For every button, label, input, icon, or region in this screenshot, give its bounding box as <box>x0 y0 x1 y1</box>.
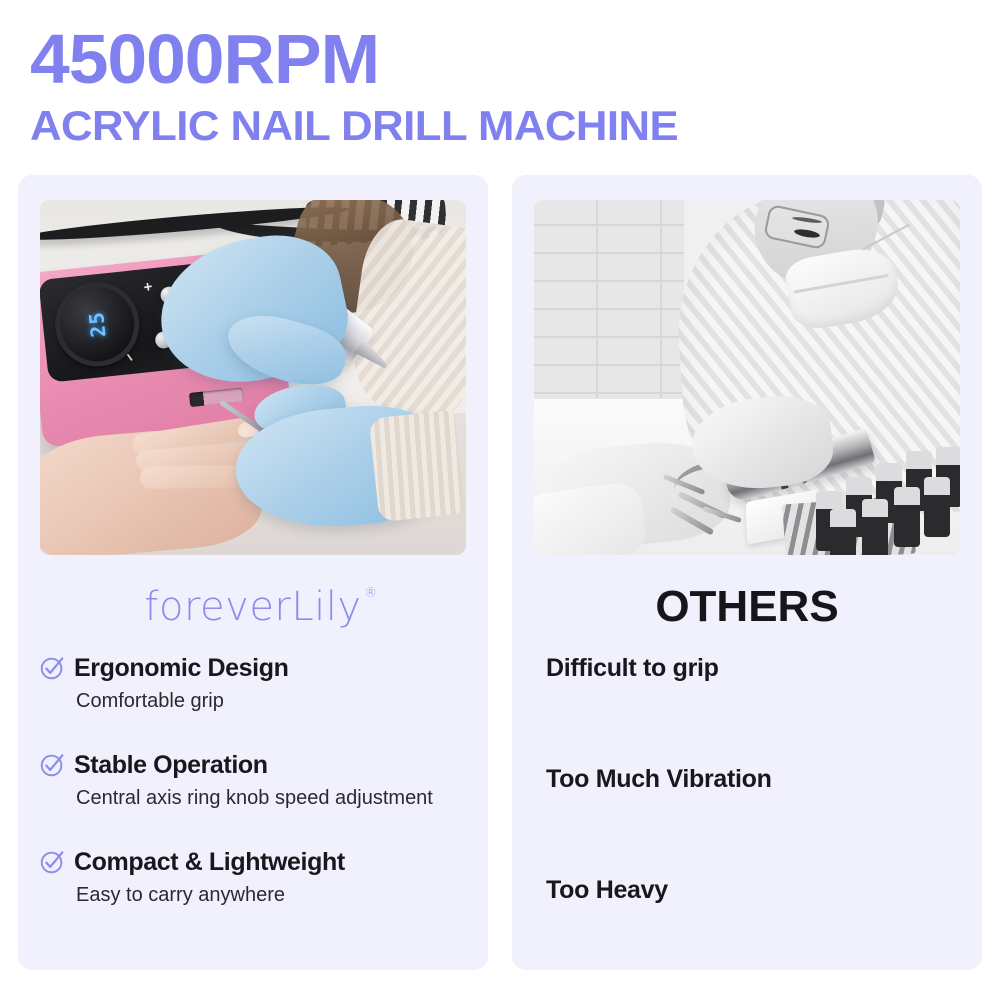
others-title: OTHERS <box>655 582 838 632</box>
client-sleeve <box>534 480 648 555</box>
device-switch <box>189 387 244 407</box>
feature-item: Ergonomic Design Comfortable grip <box>40 653 466 714</box>
feature-subtitle: Comfortable grip <box>76 688 466 714</box>
headline-secondary: ACRYLIC NAIL DRILL MACHINE <box>30 102 1000 150</box>
drawback-item: Difficult to grip <box>546 653 948 764</box>
technician-sleeve-cuff <box>369 410 465 522</box>
feature-list: Ergonomic Design Comfortable grip Stable… <box>18 653 488 944</box>
feature-title: Stable Operation <box>74 751 268 779</box>
feature-subtitle: Central axis ring knob speed adjustment <box>76 785 466 811</box>
check-circle-icon <box>40 655 65 680</box>
drawback-item: Too Heavy <box>546 875 948 986</box>
polish-bottle <box>924 477 950 537</box>
headline-block: 45000RPM ACRYLIC NAIL DRILL MACHINE <box>30 22 970 150</box>
feature-title: Ergonomic Design <box>74 654 288 682</box>
headline-primary: 45000RPM <box>30 22 989 96</box>
brand-name: foreverLily <box>144 584 361 630</box>
drawback-item: Too Much Vibration <box>546 764 948 875</box>
brick-wall <box>534 200 694 420</box>
polish-bottle <box>830 509 856 555</box>
feature-subtitle: Easy to carry anywhere <box>76 882 466 908</box>
polish-bottle <box>862 499 888 555</box>
others-product-photo <box>534 200 960 555</box>
feature-item: Compact & Lightweight Easy to carry anyw… <box>40 847 466 908</box>
check-circle-icon <box>40 752 65 777</box>
feature-title: Compact & Lightweight <box>74 848 345 876</box>
plus-label: + <box>142 278 154 296</box>
brand-header: foreverLily ® <box>18 571 488 643</box>
others-header: OTHERS <box>512 571 982 643</box>
foreverlily-logo: foreverLily ® <box>144 584 361 630</box>
product-comparison-infographic: 45000RPM ACRYLIC NAIL DRILL MACHINE 25 +… <box>0 0 1000 1000</box>
foreverlily-card: 25 + − % NAIL DRILL <box>18 175 488 970</box>
check-circle-icon <box>40 849 65 874</box>
speed-display-value: 25 <box>84 310 111 338</box>
polish-bottle <box>894 487 920 547</box>
registered-trademark-icon: ® <box>364 586 378 601</box>
feature-item: Stable Operation Central axis ring knob … <box>40 750 466 811</box>
polish-bottle-group <box>816 447 960 555</box>
mask-pleat <box>794 274 889 294</box>
drawback-list: Difficult to grip Too Much Vibration Too… <box>512 653 982 986</box>
others-card: OTHERS Difficult to grip Too Much Vibrat… <box>512 175 982 970</box>
foreverlily-product-photo: 25 + − % NAIL DRILL <box>40 200 466 555</box>
